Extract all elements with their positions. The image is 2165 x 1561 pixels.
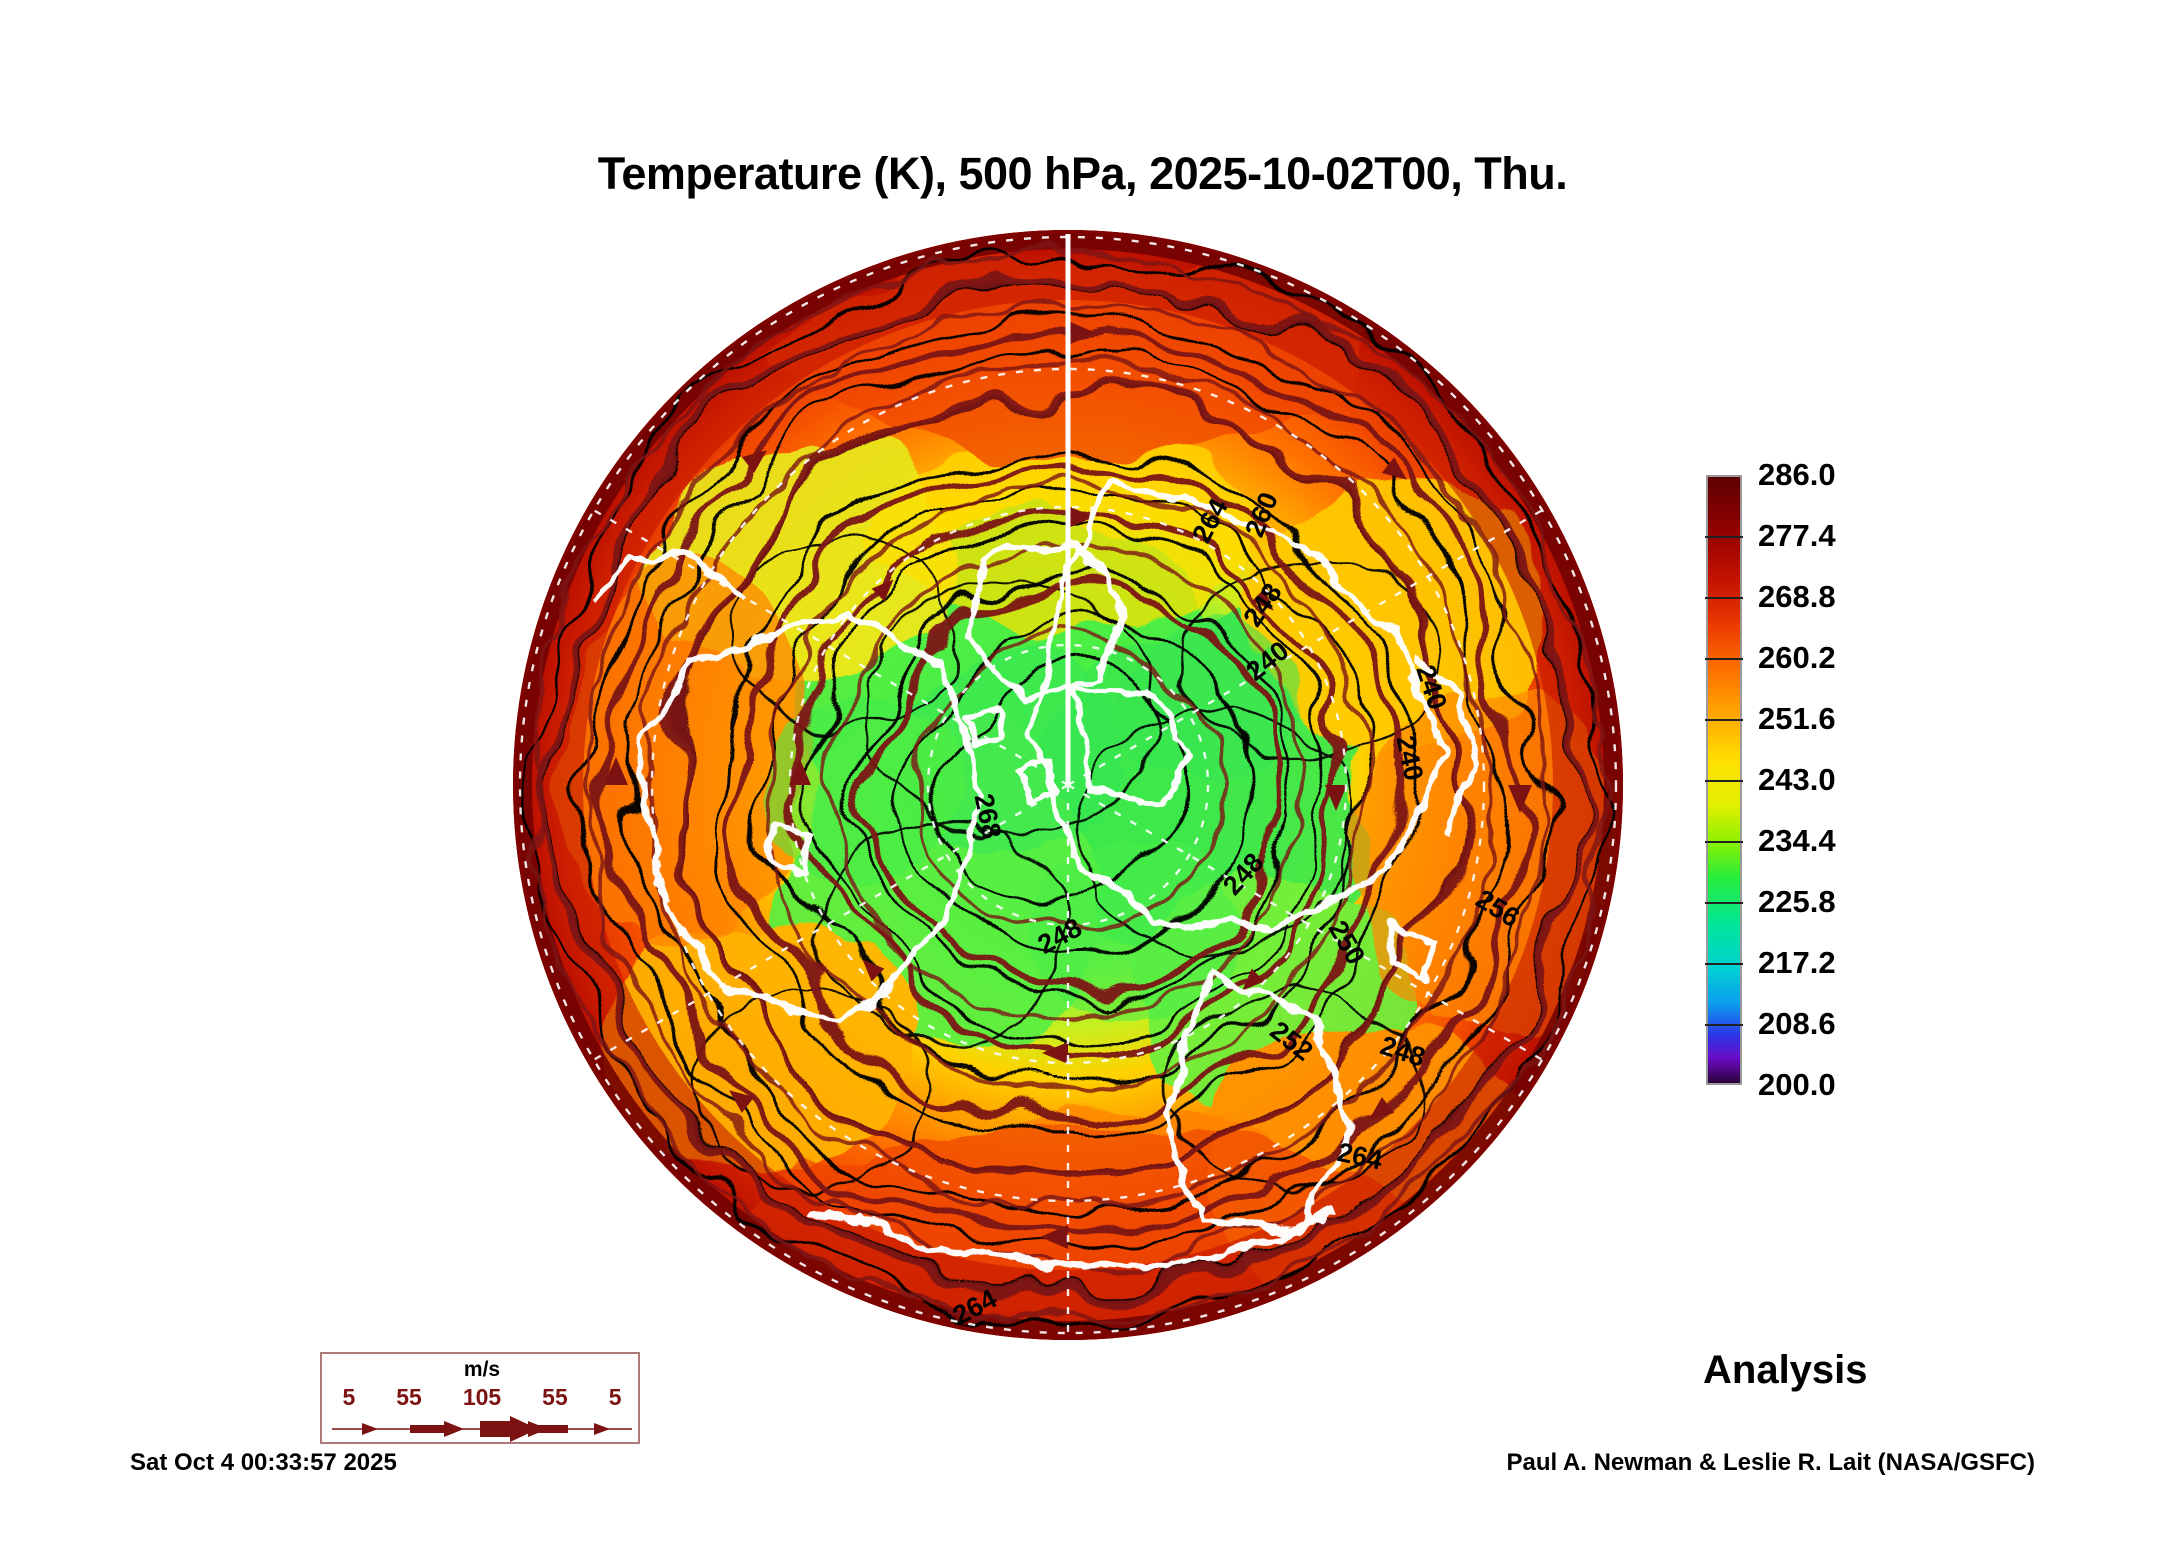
wind-key-arrow-glyphs: [332, 1416, 632, 1442]
wind-speed-key: m/s 555105555: [320, 1352, 640, 1444]
colorbar-tick-label: 243.0: [1758, 762, 1836, 798]
colorbar-tick-label: 260.2: [1758, 640, 1836, 676]
colorbar-tick: [1705, 658, 1743, 660]
colorbar[interactable]: 286.0277.4268.8260.2251.6243.0234.4225.8…: [1706, 475, 1742, 1085]
colorbar-tick: [1705, 719, 1743, 721]
page-title: Temperature (K), 500 hPa, 2025-10-02T00,…: [0, 148, 2165, 200]
colorbar-tick-label: 200.0: [1758, 1067, 1836, 1103]
wind-key-units: m/s: [322, 1358, 642, 1382]
colorbar-tick-label: 268.8: [1758, 579, 1836, 615]
colorbar-tick: [1705, 780, 1743, 782]
wind-key-value: 5: [609, 1384, 622, 1411]
author-credit: Paul A. Newman & Leslie R. Lait (NASA/GS…: [1506, 1449, 2035, 1477]
colorbar-tick: [1705, 1024, 1743, 1026]
globe-disc: 2642602482402402402682482482562502482522…: [513, 230, 1623, 1340]
colorbar-tick: [1705, 841, 1743, 843]
map-field-layer: 2642602482402402402682482482562502482522…: [513, 230, 1623, 1340]
wind-key-value: 5: [342, 1384, 355, 1411]
colorbar-tick-label: 217.2: [1758, 945, 1836, 981]
colorbar-tick: [1705, 597, 1743, 599]
wind-key-value: 55: [542, 1384, 568, 1411]
analysis-label: Analysis: [1703, 1348, 1868, 1393]
wind-key-value: 55: [396, 1384, 422, 1411]
colorbar-tick-label: 277.4: [1758, 518, 1836, 554]
colorbar-tick-label: 234.4: [1758, 823, 1836, 859]
colorbar-tick-label: 251.6: [1758, 701, 1836, 737]
polar-map[interactable]: 2642602482402402402682482482562502482522…: [513, 230, 1623, 1340]
colorbar-tick: [1705, 536, 1743, 538]
colorbar-tick-label: 286.0: [1758, 457, 1836, 493]
colorbar-tick-label: 225.8: [1758, 884, 1836, 920]
wind-key-values: 555105555: [322, 1384, 642, 1411]
colorbar-tick-label: 208.6: [1758, 1006, 1836, 1042]
colorbar-tick: [1705, 902, 1743, 904]
generation-timestamp: Sat Oct 4 00:33:57 2025: [130, 1449, 397, 1477]
wind-key-value: 105: [463, 1384, 501, 1411]
colorbar-tick: [1705, 963, 1743, 965]
